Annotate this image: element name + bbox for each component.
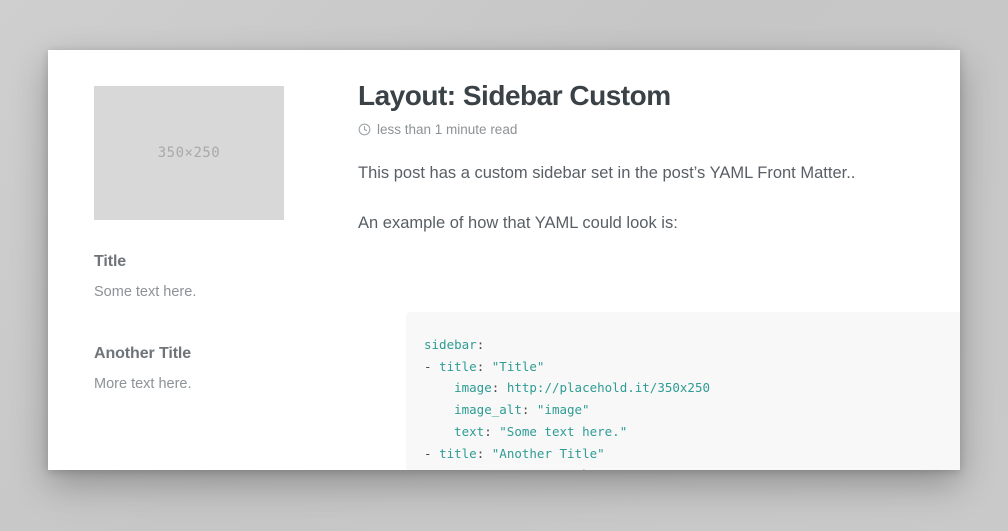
page-background: 350×250 Title Some text here. Another Ti…	[0, 0, 1008, 531]
code-block: sidebar: - title: "Title" image: http://…	[406, 312, 960, 470]
post-sidebar: 350×250 Title Some text here. Another Ti…	[94, 86, 294, 392]
yaml-code: sidebar: - title: "Title" image: http://…	[424, 337, 710, 470]
sidebar-block-title: Title	[94, 253, 294, 271]
post-meta: less than 1 minute read	[358, 123, 960, 137]
post-card: 350×250 Title Some text here. Another Ti…	[48, 50, 960, 470]
sidebar-block-text: More text here.	[94, 376, 294, 392]
post-paragraph: An example of how that YAML could look i…	[358, 211, 960, 236]
sidebar-block: Title Some text here.	[94, 253, 294, 300]
post-content: Layout: Sidebar Custom less than 1 minut…	[358, 80, 960, 236]
sidebar-block: Another Title More text here.	[94, 345, 294, 392]
clock-icon	[358, 123, 371, 136]
page-title: Layout: Sidebar Custom	[358, 80, 960, 112]
sidebar-block-text: Some text here.	[94, 284, 294, 300]
sidebar-image: 350×250	[94, 86, 284, 220]
code-content: sidebar: - title: "Title" image: http://…	[406, 312, 960, 470]
post-paragraph: This post has a custom sidebar set in th…	[358, 161, 960, 186]
read-time-label: less than 1 minute read	[377, 123, 517, 137]
image-placeholder-icon: 350×250	[158, 145, 221, 161]
sidebar-block-title: Another Title	[94, 345, 294, 363]
